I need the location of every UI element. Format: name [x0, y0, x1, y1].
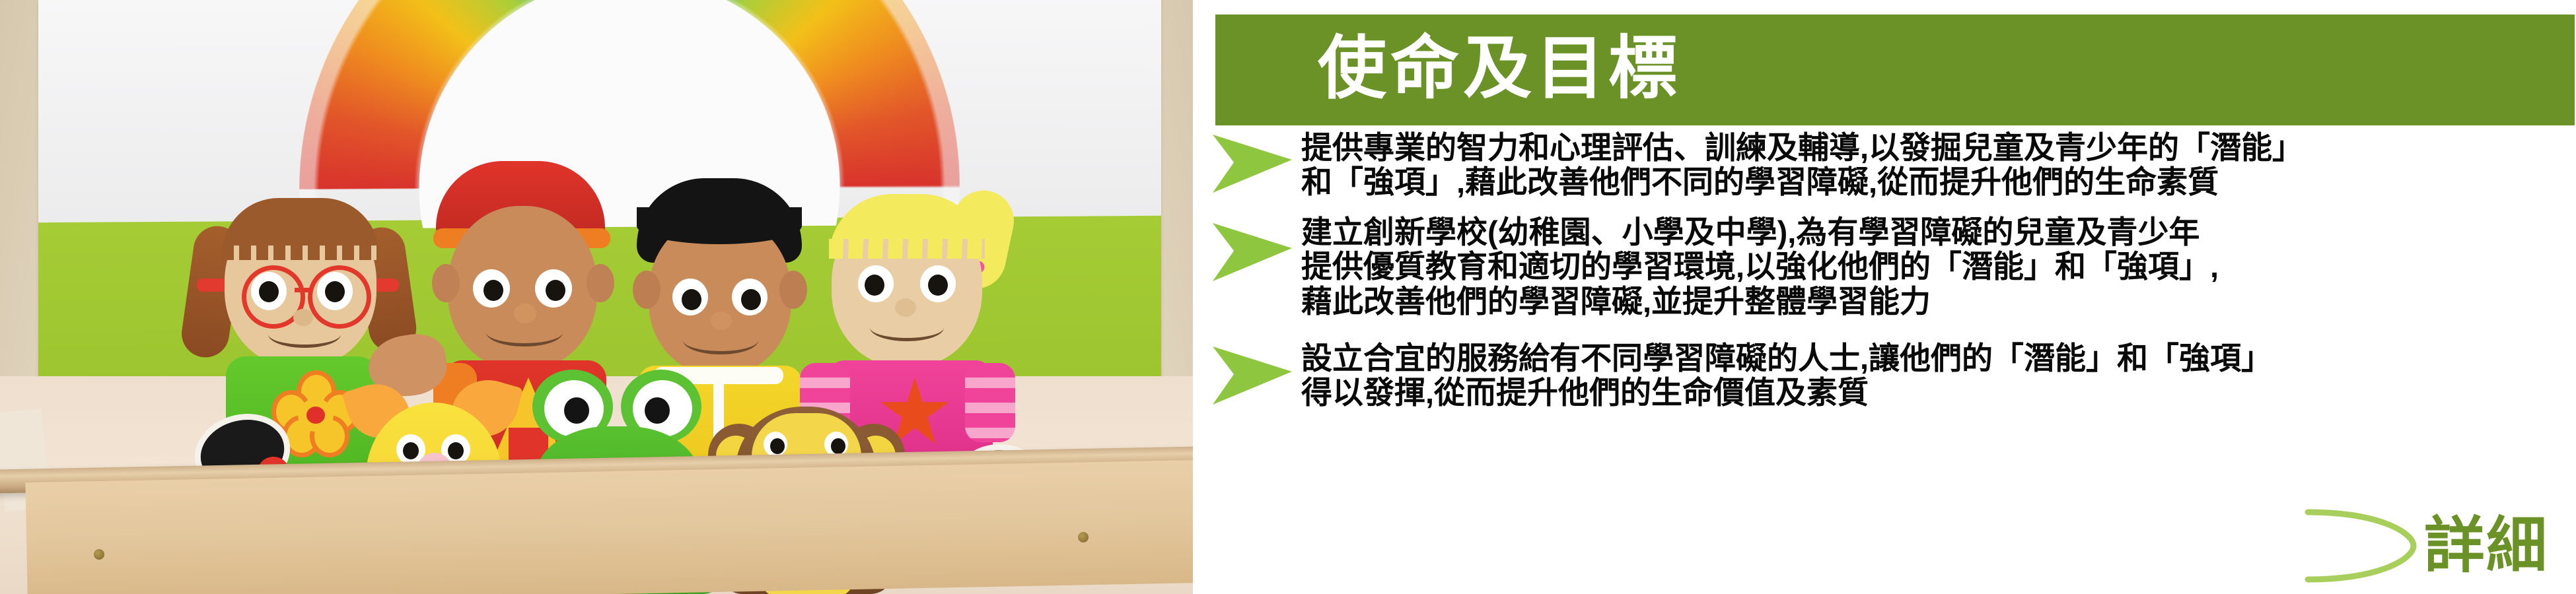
more-details-label: 詳細 [2424, 515, 2548, 576]
bullet-arrow-icon [1213, 222, 1292, 282]
list-item: 設立合宜的服務給有不同學習障礙的人士,讓他們的「潛能」和「強項」 得以發揮,從而… [1193, 340, 2576, 410]
mission-panel: 使命及目標 提供專業的智力和心理評估、訓練及輔導,以發掘兒童及青少年的「潛能」 … [1193, 0, 2576, 594]
crescent-arc-icon [2295, 507, 2420, 585]
page-title: 使命及目標 [1318, 34, 1681, 103]
mission-bullet-list: 提供專業的智力和心理評估、訓練及輔導,以發掘兒童及青少年的「潛能」 和「強項」,… [1193, 129, 2576, 410]
list-item-text: 提供專業的智力和心理評估、訓練及輔導,以發掘兒童及青少年的「潛能」 和「強項」,… [1301, 129, 2576, 199]
slide-root: 使命及目標 提供專業的智力和心理評估、訓練及輔導,以發掘兒童及青少年的「潛能」 … [0, 0, 2576, 594]
bench-front-panel [25, 460, 1193, 594]
bullet-arrow-icon [1213, 133, 1292, 194]
more-details-link[interactable]: 詳細 [2295, 507, 2548, 585]
bench-screw [94, 549, 104, 560]
association-photo [0, 0, 1193, 594]
list-item-text: 建立創新學校(幼稚園、小學及中學),為有學習障礙的兒童及青少年 提供優質教育和適… [1301, 214, 2576, 318]
bullet-arrow-icon [1213, 345, 1292, 406]
list-item: 建立創新學校(幼稚園、小學及中學),為有學習障礙的兒童及青少年 提供優質教育和適… [1193, 214, 2576, 318]
section-title-bar: 使命及目標 [1215, 15, 2575, 125]
list-item: 提供專業的智力和心理評估、訓練及輔導,以發掘兒童及青少年的「潛能」 和「強項」,… [1193, 129, 2576, 199]
list-item-text: 設立合宜的服務給有不同學習障礙的人士,讓他們的「潛能」和「強項」 得以發揮,從而… [1301, 340, 2576, 410]
bench-screw [1078, 532, 1089, 543]
